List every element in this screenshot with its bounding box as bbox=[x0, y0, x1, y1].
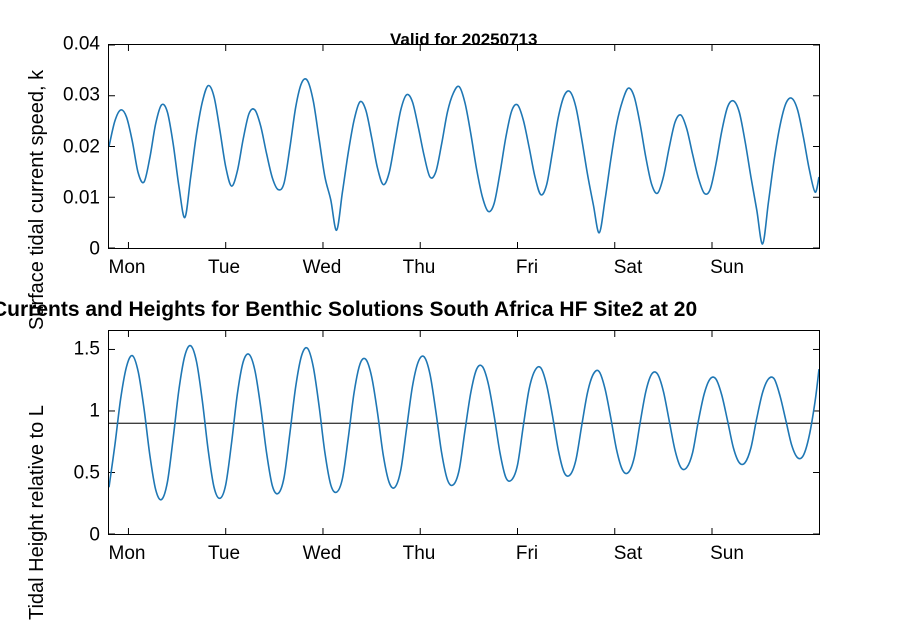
top-ytick-4: 0.04 bbox=[40, 35, 100, 54]
top-xtick-thu: Thu bbox=[403, 258, 436, 277]
bottom-xtick-thu: Thu bbox=[403, 544, 436, 563]
bottom-panel-series-line bbox=[109, 331, 819, 534]
top-ytick-1: 0.01 bbox=[40, 188, 100, 207]
bottom-ytick-0: 0 bbox=[40, 526, 100, 545]
top-ytick-3: 0.03 bbox=[40, 86, 100, 105]
bottom-xtick-sat: Sat bbox=[614, 544, 643, 563]
bottom-panel-plot-area bbox=[108, 330, 820, 535]
bottom-ytick-2: 1 bbox=[40, 401, 100, 420]
top-xtick-wed: Wed bbox=[303, 258, 342, 277]
top-xtick-sat: Sat bbox=[614, 258, 643, 277]
top-panel-plot-area bbox=[108, 44, 820, 249]
bottom-xtick-fri: Fri bbox=[516, 544, 538, 563]
top-ytick-2: 0.02 bbox=[40, 137, 100, 156]
top-xtick-mon: Mon bbox=[109, 258, 146, 277]
figure-main-title: Currents and Heights for Benthic Solutio… bbox=[0, 298, 697, 322]
bottom-xtick-sun: Sun bbox=[710, 544, 744, 563]
bottom-ytick-1: 0.5 bbox=[40, 463, 100, 482]
bottom-xtick-wed: Wed bbox=[303, 544, 342, 563]
top-xtick-fri: Fri bbox=[516, 258, 538, 277]
bottom-panel-ylabel: Tidal Height relative to L bbox=[26, 405, 49, 620]
top-panel-series-line bbox=[109, 45, 819, 248]
chart-figure: Surface tidal current speed, k Valid for… bbox=[0, 0, 900, 600]
top-xtick-sun: Sun bbox=[710, 258, 744, 277]
top-ytick-0: 0 bbox=[40, 240, 100, 259]
bottom-ytick-3: 1.5 bbox=[40, 339, 100, 358]
top-xtick-tue: Tue bbox=[208, 258, 240, 277]
bottom-xtick-tue: Tue bbox=[208, 544, 240, 563]
bottom-xtick-mon: Mon bbox=[109, 544, 146, 563]
